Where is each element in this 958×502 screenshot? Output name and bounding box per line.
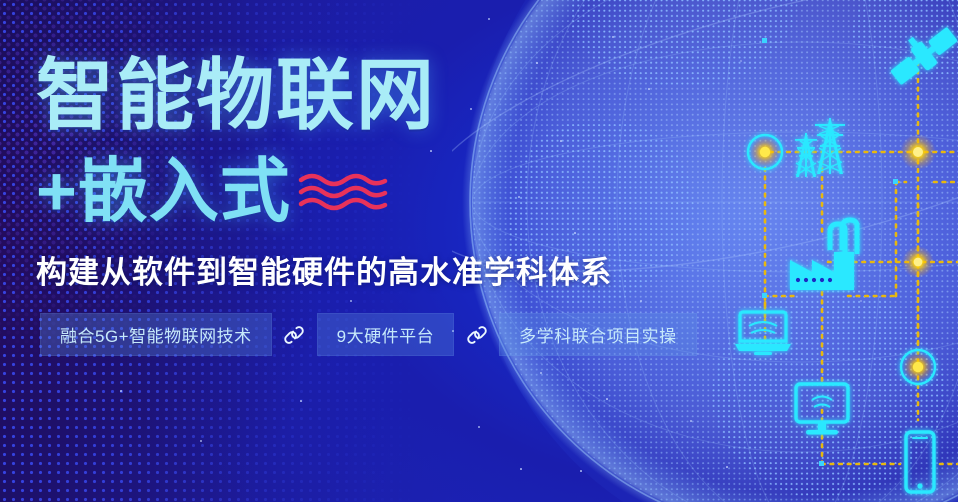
factory-icon	[790, 220, 857, 290]
feature-tag-bar: 融合5G+智能物联网技术 9大硬件平台 多学科联合项目实操	[40, 313, 697, 356]
glow-node-icon-mid	[902, 246, 934, 278]
wave-lines-icon	[297, 171, 389, 216]
iot-network-diagram	[700, 0, 958, 502]
power-tower-icon-small	[795, 133, 817, 177]
subtitle-line-2-row: +嵌入式	[36, 156, 389, 226]
feature-tag-2[interactable]: 9大硬件平台	[317, 313, 454, 356]
glow-node-ring-icon	[748, 135, 782, 169]
chain-link-icon	[272, 313, 317, 356]
laptop-icon	[735, 312, 791, 355]
feature-tag-3[interactable]: 多学科联合项目实操	[499, 313, 697, 356]
headline-block: 智能物联网 +嵌入式 构建从软件到智能硬件的高水准学科体系	[0, 0, 700, 502]
promo-banner: 智能物联网 +嵌入式 构建从软件到智能硬件的高水准学科体系 融合5G+智能物联网…	[0, 0, 958, 502]
power-tower-icon-large	[815, 118, 845, 174]
glow-node-icon-top	[900, 134, 936, 170]
satellite-icon	[882, 16, 958, 89]
feature-tag-1[interactable]: 融合5G+智能物联网技术	[40, 313, 272, 356]
page-title-secondary: +嵌入式	[36, 156, 291, 226]
chain-link-icon-2	[454, 313, 499, 356]
page-subtitle: 构建从软件到智能硬件的高水准学科体系	[36, 247, 612, 292]
page-title: 智能物联网	[36, 56, 436, 134]
smartphone-icon	[906, 432, 934, 492]
glow-node-ring-icon-right	[901, 350, 935, 384]
